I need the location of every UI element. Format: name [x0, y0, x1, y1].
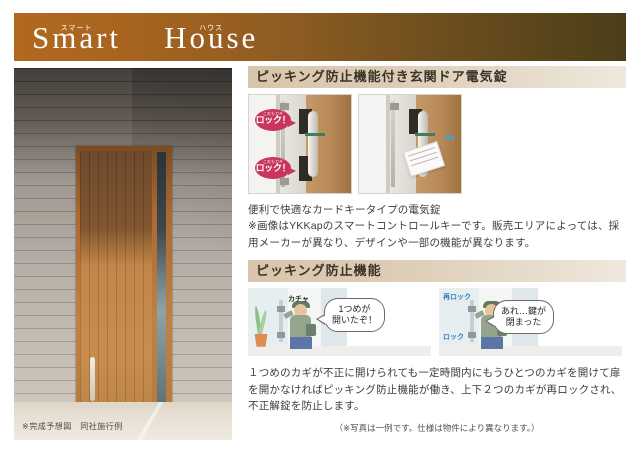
right-content-column: ピッキング防止機能付き玄関ドア電気錠 これもカギ ロック！ これもカギ ロック！ [248, 66, 626, 434]
photo-upper-bolt [390, 103, 399, 110]
comic-floor [248, 346, 431, 356]
entrance-door-photo: ※完成予想図 同社施行例 [14, 68, 232, 440]
wooden-door [80, 151, 152, 440]
comic-lower-lock [277, 332, 285, 338]
page-title: スマート Smart ハウス House [32, 16, 258, 60]
section-heading-electric-lock: ピッキング防止機能付き玄関ドア電気錠 [248, 66, 626, 88]
comic-speech-line-1: あれ…鍵が [501, 306, 546, 317]
photo-green-band [415, 133, 435, 136]
comic-speech-bubble-1: 1つめが 開いたぞ！ [324, 298, 385, 333]
lock-bubble-lower: これもカギ ロック！ [255, 157, 291, 179]
lock-photo-double-lock: これもカギ ロック！ これもカギ ロック！ [248, 94, 352, 194]
photo-green-band [305, 133, 325, 136]
lock-photo-card-key: ≫ [358, 94, 462, 194]
photo-caption: ※完成予想図 同社施行例 [22, 421, 123, 432]
door-frame [76, 146, 172, 440]
comic-speech-bubble-2: あれ…鍵が 閉まった [493, 300, 554, 335]
header-banner: スマート Smart ハウス House [14, 13, 626, 61]
comic-burglar-legs [290, 337, 312, 349]
comic-speech-line-1: 1つめが [332, 304, 377, 315]
comic-panel-relocked: 再ロック ロック あれ…鍵が 閉まった [439, 288, 622, 356]
title-word-smart: スマート Smart [32, 16, 121, 60]
section1-body: 便利で快適なカードキータイプの電気錠 ※画像はYKKapのスマートコントロールキ… [248, 202, 626, 251]
comic-panel-first-lock-opened: カチャ 1つめが 開いたぞ！ [248, 288, 431, 356]
comic-lower-lock [468, 332, 476, 338]
comic-sound-effect: カチャ [288, 294, 309, 304]
photo-door-handle [308, 111, 318, 178]
disclaimer-text: （※写真は一例です。仕様は物件により異なります。） [248, 422, 626, 434]
photo-upper-bolt [280, 103, 289, 110]
ruby-smart: スマート [61, 7, 93, 51]
signal-wave-icon: ≫ [443, 131, 455, 144]
lock-bubble-upper-main: ロック！ [255, 116, 291, 125]
comic-label-relock: 再ロック [443, 292, 471, 302]
title-word-house: ハウス House [164, 16, 258, 60]
section1-lead: 便利で快適なカードキータイプの電気錠 [248, 202, 626, 218]
photo-lower-bolt [280, 178, 289, 185]
lock-bubble-upper-sub: これもカギ [255, 112, 291, 116]
section1-note: ※画像はYKKapのスマートコントロールキーです。販売エリアによっては、採用メー… [248, 218, 626, 251]
comic-burglar-legs [481, 337, 503, 349]
door-sidelight-glass [157, 152, 166, 407]
comic-burglar-bag [306, 324, 316, 336]
photo-lock-strip [391, 101, 395, 187]
section-heading-anti-picking: ピッキング防止機能 [248, 260, 626, 282]
ruby-house: ハウス [199, 7, 223, 51]
lock-bubble-lower-sub: これもカギ [255, 160, 291, 164]
comic-speech-line-2: 開いたぞ！ [332, 315, 377, 326]
comic-floor [439, 346, 622, 356]
comic-upper-lock [277, 306, 285, 312]
comic-label-lock: ロック [443, 332, 464, 342]
comic-row: カチャ 1つめが 開いたぞ！ 再ロック ロック あれ…鍵が 閉まっ [248, 288, 626, 356]
comic-speech-line-2: 閉まった [501, 317, 546, 328]
lock-bubble-upper: これもカギ ロック！ [255, 109, 291, 131]
lock-bubble-lower-main: ロック！ [255, 164, 291, 173]
lock-photo-row: これもカギ ロック！ これもカギ ロック！ ≫ [248, 94, 626, 194]
comic-upper-lock [468, 306, 476, 312]
door-handle [90, 357, 95, 401]
section2-body: １つめのカギが不正に開けられても一定時間内にもうひとつのカギを開けて扉を開かなけ… [248, 365, 626, 415]
